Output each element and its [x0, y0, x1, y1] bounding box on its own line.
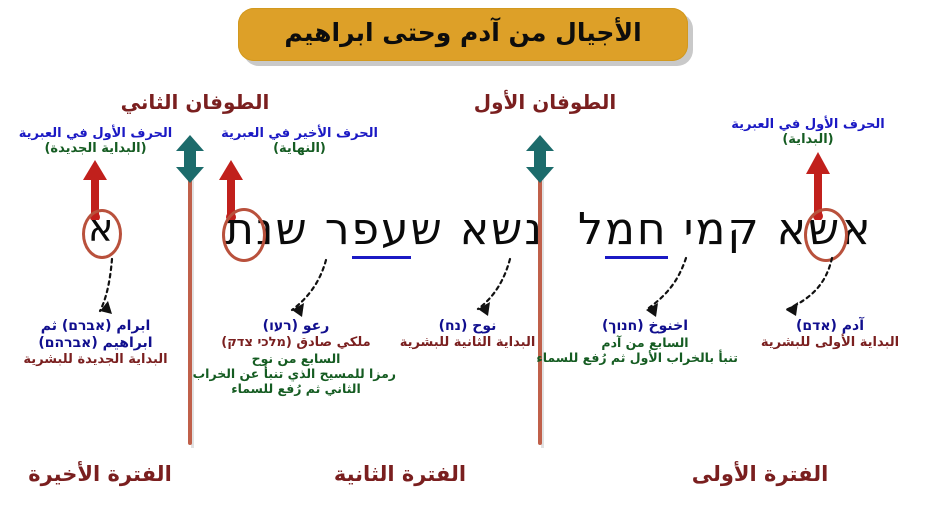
- hebrew-middle-lead: נשא ש: [411, 204, 544, 255]
- title-box: الأجيال من آدم وحتى ابراهيم: [238, 8, 688, 61]
- desc-adam-red: البداية الأولى للبشرية: [740, 335, 920, 351]
- desc-noah-red: البداية الثانية للبشرية: [390, 335, 545, 351]
- dotted-arrow-enoch-icon: [616, 252, 694, 324]
- dotted-arrow-enoch: [616, 252, 694, 328]
- name-abraham: ابراهيم (אברהם): [8, 335, 183, 352]
- desc-reu-green1: السابع من نوح: [196, 351, 396, 366]
- name-reu: رعو (רעו): [196, 318, 396, 335]
- name-noah: نوح (נח): [390, 318, 545, 335]
- period-label-first: الفترة الأولى: [660, 462, 860, 486]
- dotted-arrow-abraham-icon: [60, 255, 132, 325]
- name-abram: ابرام (אברם) ثم: [8, 318, 183, 335]
- teal-double-arrow-right: [524, 134, 556, 188]
- hebrew-middle-underlined: עפ: [352, 204, 411, 259]
- hebrew-line-middle: נשא שעפר שנת: [225, 204, 544, 255]
- name-block-noah: نوح (נח) البداية الثانية للبشرية: [390, 318, 545, 351]
- hebrew-right-rest-b: ל: [578, 204, 605, 255]
- callout-right-line2: (البداية): [718, 133, 898, 148]
- flood-label-second: الطوفان الثاني: [110, 90, 280, 114]
- circle-marker-left-aleph: [82, 209, 122, 259]
- flood-label-first: الطوفان الأول: [460, 90, 630, 114]
- desc-enoch-green1: السابع من آدم: [552, 335, 738, 350]
- callout-right-line1: الحرف الأول في العبرية: [718, 118, 898, 133]
- callout-middle-line1: الحرف الأخير في العبرية: [212, 127, 387, 142]
- hebrew-right-underlined: חמ: [605, 204, 668, 259]
- callout-left-line2: (البداية الجديدة): [8, 142, 183, 157]
- period-label-second: الفترة الثانية: [300, 462, 500, 486]
- diagram-canvas: الأجيال من آدم وحتى ابراهيم الطوفان الثا…: [0, 0, 929, 520]
- callout-left-line1: الحرف الأول في العبرية: [8, 127, 183, 142]
- callout-middle: الحرف الأخير في العبرية (النهاية): [212, 127, 387, 157]
- desc-reu-green3: الثاني ثم رُفع للسماء: [196, 381, 396, 396]
- desc-reu-green2: رمزا للمسيح الذي تنبأ عن الخراب: [196, 366, 396, 381]
- desc-abraham-red: البداية الجديدة للبشرية: [8, 352, 183, 368]
- title-banner: الأجيال من آدم وحتى ابراهيم: [238, 8, 693, 66]
- circle-marker-middle-tav: [222, 208, 266, 262]
- page-title: الأجيال من آدم وحتى ابراهيم: [284, 20, 641, 49]
- name-adam: آدم (אדם): [740, 318, 920, 335]
- dotted-arrow-reu-icon: [262, 256, 334, 324]
- callout-middle-line2: (النهاية): [212, 142, 387, 157]
- name-block-reu: رعو (רעו) ملكي صادق (מלכי צדק) السابع من…: [196, 318, 396, 397]
- name-block-abraham: ابرام (אברם) ثم ابراهيم (אברהם) البداية …: [8, 318, 183, 368]
- callout-left: الحرف الأول في العبرية (البداية الجديدة): [8, 127, 183, 157]
- teal-double-arrow-right-icon: [524, 134, 556, 184]
- name-block-enoch: اخنوخ (חנוך) السابع من آدم تنبأ بالخراب …: [552, 318, 738, 366]
- dotted-arrow-noah: [446, 255, 518, 327]
- name-block-adam: آدم (אדם) البداية الأولى للبشرية: [740, 318, 920, 351]
- hebrew-middle-mid: ר שנ: [256, 204, 352, 255]
- name-melchizedek: ملكي صادق (מלכי צדק): [196, 335, 396, 351]
- callout-right: الحرف الأول في العبرية (البداية): [718, 118, 898, 148]
- name-enoch: اخنوخ (חנוך): [552, 318, 738, 335]
- period-label-last: الفترة الأخيرة: [0, 462, 200, 486]
- dotted-arrow-noah-icon: [446, 255, 518, 323]
- desc-enoch-green2: تنبأ بالخراب الأول ثم رُفع للسماء: [552, 350, 738, 365]
- divider-line-left: [188, 172, 192, 445]
- dotted-arrow-adam-icon: [750, 250, 840, 325]
